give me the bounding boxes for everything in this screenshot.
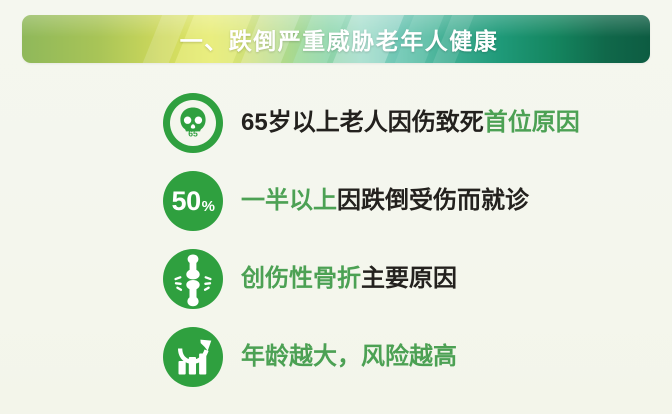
section-title: 一、跌倒严重威胁老年人健康 bbox=[22, 15, 650, 63]
bone-icon-disc bbox=[163, 249, 223, 309]
list-item-text: 一半以上因跌倒受伤而就诊 bbox=[241, 188, 529, 214]
fact-list: 65 65岁以上老人因伤致死首位原因 50 % 一半以上因跌倒受伤而就诊 bbox=[0, 84, 672, 396]
infographic-page: 一、跌倒严重威胁老年人健康 65 bbox=[0, 0, 672, 414]
percent-icon-value: 50 % bbox=[172, 188, 215, 215]
rising-chart-arrow-icon bbox=[163, 327, 223, 387]
skull-65-icon: 65 bbox=[163, 93, 223, 153]
list-item-text: 创伤性骨折主要原因 bbox=[241, 266, 457, 292]
list-item-text: 年龄越大，风险越高 bbox=[241, 344, 457, 370]
section-header-banner: 一、跌倒严重威胁老年人健康 bbox=[22, 15, 650, 63]
list-item-text: 65岁以上老人因伤致死首位原因 bbox=[241, 110, 580, 136]
chart-icon-disc bbox=[163, 327, 223, 387]
list-item-text-highlight: 一半以上 bbox=[241, 187, 337, 214]
list-item-text-highlight: 年龄越大，风险越高 bbox=[241, 343, 457, 370]
list-item-text-part: 65岁以上老人因伤致死 bbox=[241, 109, 484, 136]
bone-joint-glyph bbox=[163, 249, 223, 309]
list-item: 50 % 一半以上因跌倒受伤而就诊 bbox=[0, 162, 672, 240]
skull-icon-ring: 65 bbox=[163, 93, 223, 153]
list-item-text-part: 因跌倒受伤而就诊 bbox=[337, 187, 529, 214]
list-item: 创伤性骨折主要原因 bbox=[0, 240, 672, 318]
list-item: 65 65岁以上老人因伤致死首位原因 bbox=[0, 84, 672, 162]
skull-icon-label: 65 bbox=[188, 129, 198, 139]
list-item-text-highlight: 首位原因 bbox=[484, 109, 580, 136]
percent-icon-symbol: % bbox=[202, 199, 215, 214]
fifty-percent-icon: 50 % bbox=[163, 171, 223, 231]
rising-arrow-bars-glyph bbox=[163, 327, 223, 387]
skull-icon-inner: 65 bbox=[170, 100, 216, 146]
percent-icon-number: 50 bbox=[172, 188, 201, 215]
list-item: 年龄越大，风险越高 bbox=[0, 318, 672, 396]
percent-icon-disc: 50 % bbox=[163, 171, 223, 231]
skull-glyph: 65 bbox=[173, 103, 213, 143]
list-item-text-part: 主要原因 bbox=[361, 265, 457, 292]
bone-fracture-icon bbox=[163, 249, 223, 309]
list-item-text-highlight: 创伤性骨折 bbox=[241, 265, 361, 292]
